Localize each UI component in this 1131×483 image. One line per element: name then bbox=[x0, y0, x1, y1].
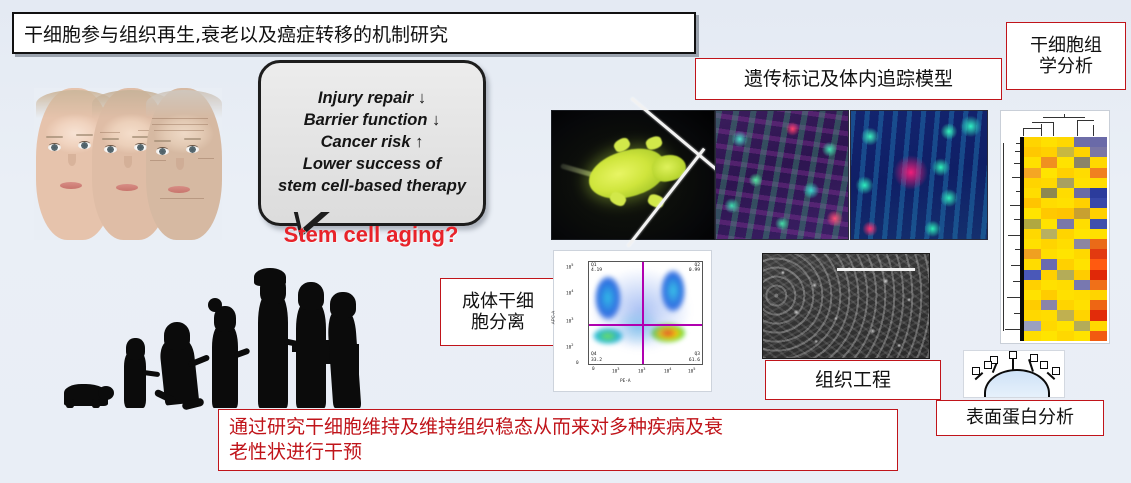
flow-plot-area: Q14.19 Q20.99 Q361.6 Q433.2 bbox=[588, 261, 703, 365]
caption-tissue-engineering: 组织工程 bbox=[765, 360, 941, 400]
bubble-line-2: Barrier function ↓ bbox=[304, 110, 441, 132]
receptor-icon bbox=[1052, 367, 1060, 375]
flow-quadrant-q2: Q20.99 bbox=[689, 263, 700, 274]
stem-cell-aging-bubble: Injury repair ↓ Barrier function ↓ Cance… bbox=[258, 60, 486, 226]
bubble-line-1: Injury repair ↓ bbox=[318, 88, 426, 110]
receptor-icon bbox=[1040, 361, 1048, 369]
receptor-icon bbox=[972, 367, 980, 375]
flow-gate-horizontal bbox=[589, 324, 702, 325]
bubble-line-5: stem cell-based therapy bbox=[278, 176, 466, 198]
membrane-diagram bbox=[963, 350, 1065, 398]
slide-canvas: 干细胞参与组织再生,衰老以及癌症转移的机制研究 bbox=[0, 0, 1131, 483]
aging-faces-photo bbox=[34, 88, 222, 240]
slide-title-box: 干细胞参与组织再生,衰老以及癌症转移的机制研究 bbox=[12, 12, 696, 54]
flow-quadrant-q3: Q361.6 bbox=[689, 352, 700, 363]
stem-cell-aging-label: Stem cell aging? bbox=[256, 222, 486, 248]
flow-gate-vertical bbox=[642, 262, 643, 364]
silhouette-teen bbox=[212, 326, 238, 408]
gfp-mouse-image bbox=[551, 110, 715, 240]
dendrogram-left bbox=[1002, 137, 1020, 341]
conclusion-line-1: 通过研究干细胞维持及维持组织稳态从而来对多种疾病及衰 bbox=[229, 415, 723, 440]
face-old bbox=[146, 88, 222, 240]
confocal-image-2 bbox=[850, 110, 988, 240]
dendrogram-top bbox=[1019, 114, 1105, 136]
cell-culture-image bbox=[762, 253, 930, 359]
conclusion-box: 通过研究干细胞维持及维持组织稳态从而来对多种疾病及衰 老性状进行干预 bbox=[218, 409, 898, 471]
flow-quadrant-q4: Q433.2 bbox=[591, 352, 602, 363]
page-title: 干细胞参与组织再生,衰老以及癌症转移的机制研究 bbox=[14, 20, 448, 47]
caption-adult-stem-cell-isolation: 成体干细 胞分离 bbox=[440, 278, 556, 346]
conclusion-line-2: 老性状进行干预 bbox=[229, 440, 362, 465]
silhouette-adult bbox=[258, 296, 288, 408]
flow-cytometry-plot: APC-A 105 104 103 102 0 Q14.19 Q20.99 Q3… bbox=[553, 250, 712, 392]
scale-bar bbox=[837, 268, 915, 271]
cell-dome-shape bbox=[984, 369, 1050, 398]
flow-y-axis-label: APC-A bbox=[551, 311, 556, 324]
expression-heatmap bbox=[1000, 110, 1110, 344]
receptor-icon bbox=[984, 361, 992, 369]
heatmap-grid bbox=[1020, 137, 1107, 341]
receptor-icon bbox=[1030, 354, 1038, 362]
confocal-image-1 bbox=[715, 110, 849, 240]
life-stages-silhouettes bbox=[30, 250, 330, 408]
bubble-line-3: Cancer risk ↑ bbox=[321, 132, 424, 154]
caption-lineage-tracing: 遗传标记及体内追踪模型 bbox=[695, 58, 1002, 100]
flow-quadrant-q1: Q14.19 bbox=[591, 263, 602, 274]
silhouette-toddler bbox=[124, 352, 146, 408]
bubble-tail-inner-icon bbox=[295, 210, 324, 229]
receptor-icon bbox=[1009, 351, 1017, 359]
caption-surface-protein-analysis: 表面蛋白分析 bbox=[936, 400, 1104, 436]
flow-x-axis-label: PE-A bbox=[620, 379, 631, 384]
caption-stem-cell-omics: 干细胞组 学分析 bbox=[1006, 22, 1126, 90]
bubble-line-4: Lower success of bbox=[303, 154, 441, 176]
